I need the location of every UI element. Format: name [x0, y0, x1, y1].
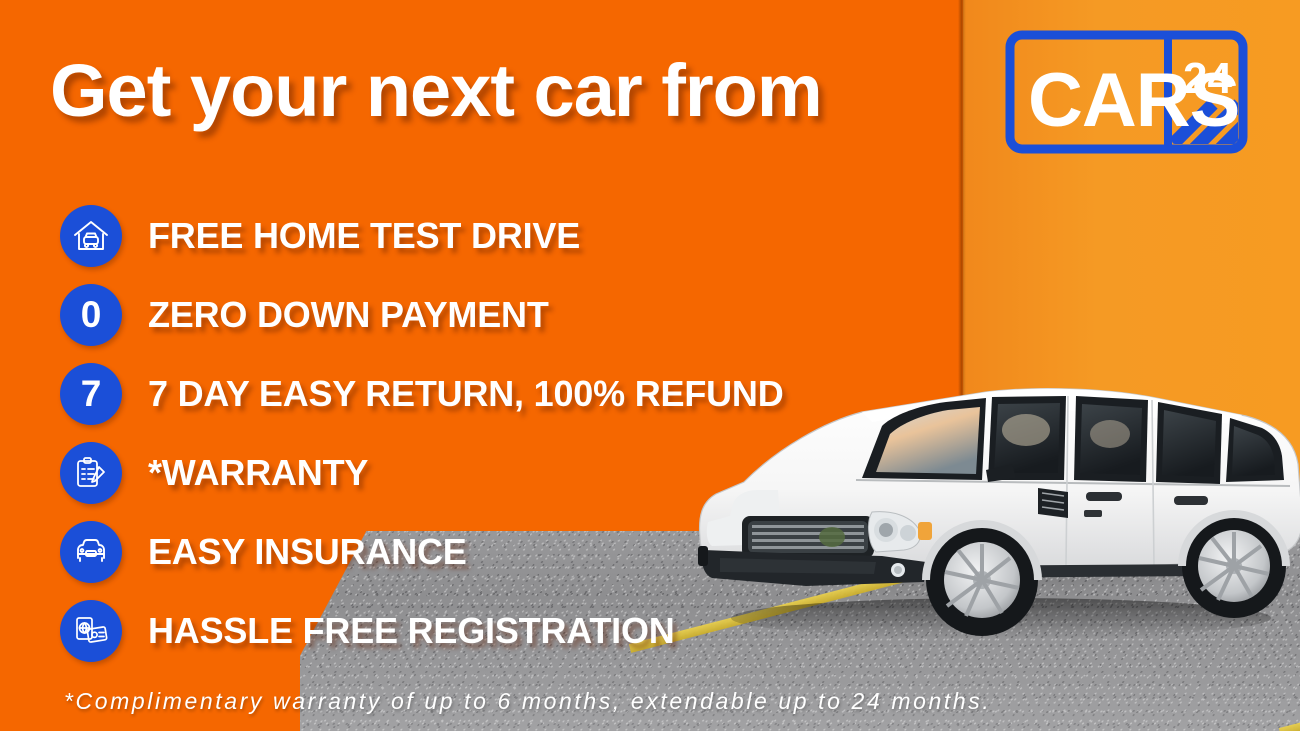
badge-number: 7: [81, 375, 102, 412]
feature-label: *WARRANTY: [148, 452, 368, 494]
documents-id-icon: [60, 600, 122, 662]
page-title: Get your next car from: [50, 54, 970, 128]
car-front-icon: [60, 521, 122, 583]
feature-item-easy-insurance: EASY INSURANCE: [60, 512, 820, 591]
feature-item-hassle-free-registration: HASSLE FREE REGISTRATION: [60, 591, 820, 670]
clipboard-pen-icon: [60, 442, 122, 504]
feature-label: 7 DAY EASY RETURN, 100% REFUND: [148, 373, 784, 415]
feature-label: HASSLE FREE REGISTRATION: [148, 610, 675, 652]
feature-item-seven-day-return: 7 7 DAY EASY RETURN, 100% REFUND: [60, 354, 820, 433]
cars24-logo[interactable]: CARS 24: [1005, 30, 1248, 154]
feature-list: FREE HOME TEST DRIVE 0 ZERO DOWN PAYMENT…: [60, 196, 820, 670]
feature-label: ZERO DOWN PAYMENT: [148, 294, 549, 336]
feature-item-warranty: *WARRANTY: [60, 433, 820, 512]
feature-label: FREE HOME TEST DRIVE: [148, 215, 580, 257]
feature-item-zero-down-payment: 0 ZERO DOWN PAYMENT: [60, 275, 820, 354]
home-car-icon: [60, 205, 122, 267]
zero-digit-icon: 0: [60, 284, 122, 346]
badge-number: 0: [81, 296, 102, 333]
logo-number-text: 24: [1183, 54, 1232, 103]
advertisement-banner: Get your next car from FREE HOME TEST DR…: [0, 0, 1300, 731]
seven-digit-icon: 7: [60, 363, 122, 425]
feature-label: EASY INSURANCE: [148, 531, 467, 573]
disclaimer-text: *Complimentary warranty of up to 6 month…: [64, 688, 1284, 715]
feature-item-free-home-test-drive: FREE HOME TEST DRIVE: [60, 196, 820, 275]
